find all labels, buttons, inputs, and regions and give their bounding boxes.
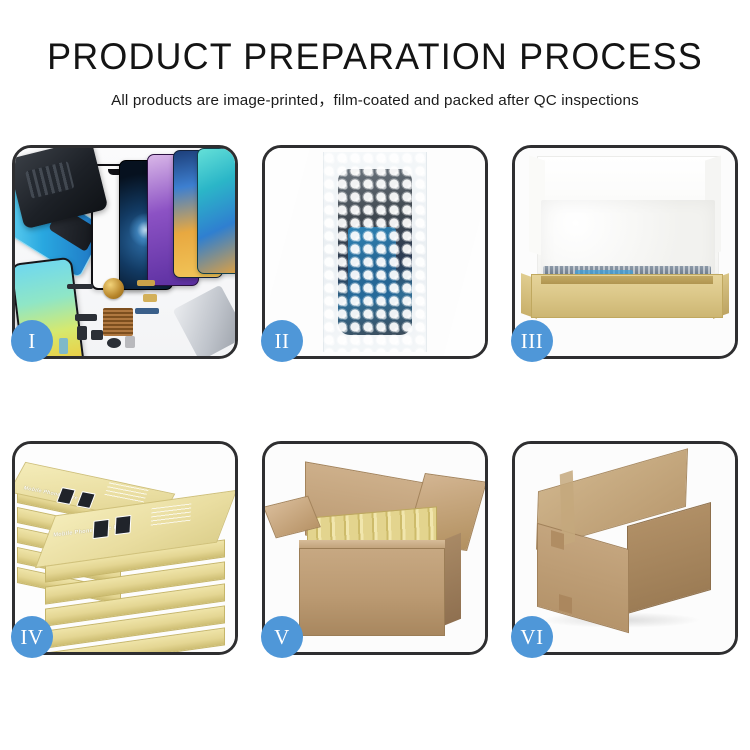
plastic-sheen-overlay <box>265 148 485 356</box>
process-steps-grid: I II <box>12 145 738 683</box>
step-panel-1: I <box>12 145 238 359</box>
box-artwork-screen-front-2 <box>115 515 132 535</box>
step-badge-4: IV <box>11 616 53 658</box>
step-badge-2: II <box>261 320 303 362</box>
sim-tray-part-icon <box>125 336 135 348</box>
carton-body-icon <box>299 548 445 636</box>
earpiece-part-icon <box>67 284 93 289</box>
button-flex-part-icon <box>75 314 97 321</box>
camera-lens-part-icon <box>107 338 121 348</box>
step-4-image: Mobile Phone Spare Parts Mobile Phone Sp… <box>15 444 235 652</box>
step-panel-6: VI <box>512 441 738 655</box>
carton-tab-upper-icon <box>551 530 564 550</box>
vibrator-part-icon <box>91 330 103 340</box>
page-title: PRODUCT PREPARATION PROCESS <box>11 36 739 78</box>
step-badge-5: V <box>261 616 303 658</box>
header: PRODUCT PREPARATION PROCESS All products… <box>0 0 750 110</box>
step-panel-4: Mobile Phone Spare Parts Mobile Phone Sp… <box>12 441 238 655</box>
box-stack: Mobile Phone Spare Parts Mobile Phone Sp… <box>15 444 235 652</box>
step-badge-3: III <box>511 320 553 362</box>
small-part-icon <box>77 326 87 340</box>
step-6-image <box>515 444 735 652</box>
carton-tab-lower-icon <box>559 594 572 614</box>
step-panel-2: II <box>262 145 488 359</box>
step-3-image <box>515 148 735 356</box>
phone-screen-teal-icon <box>197 148 235 274</box>
carton-side-icon <box>445 533 461 625</box>
mailer-box-rim-icon <box>541 276 713 284</box>
page-subtitle: All products are image-printed，film-coat… <box>0 88 750 110</box>
step-panel-5: V <box>262 441 488 655</box>
product-preparation-infographic: PRODUCT PREPARATION PROCESS All products… <box>0 0 750 750</box>
step-5-image <box>265 444 485 652</box>
box-artwork-screen-front-1 <box>93 519 110 539</box>
step-badge-6: VI <box>511 616 553 658</box>
step-1-image <box>15 148 235 356</box>
circuit-chip-icon <box>103 308 133 336</box>
step-2-image <box>265 148 485 356</box>
ribbon-cable-part-icon <box>135 308 159 314</box>
repair-tool-icon <box>173 285 235 356</box>
step-panel-3: III <box>512 145 738 359</box>
battery-part-icon <box>59 338 68 354</box>
speaker-coil-icon <box>103 278 124 299</box>
connector-part-icon <box>143 294 157 302</box>
flex-cable-part-icon <box>137 280 155 286</box>
step-badge-1: I <box>11 320 53 362</box>
